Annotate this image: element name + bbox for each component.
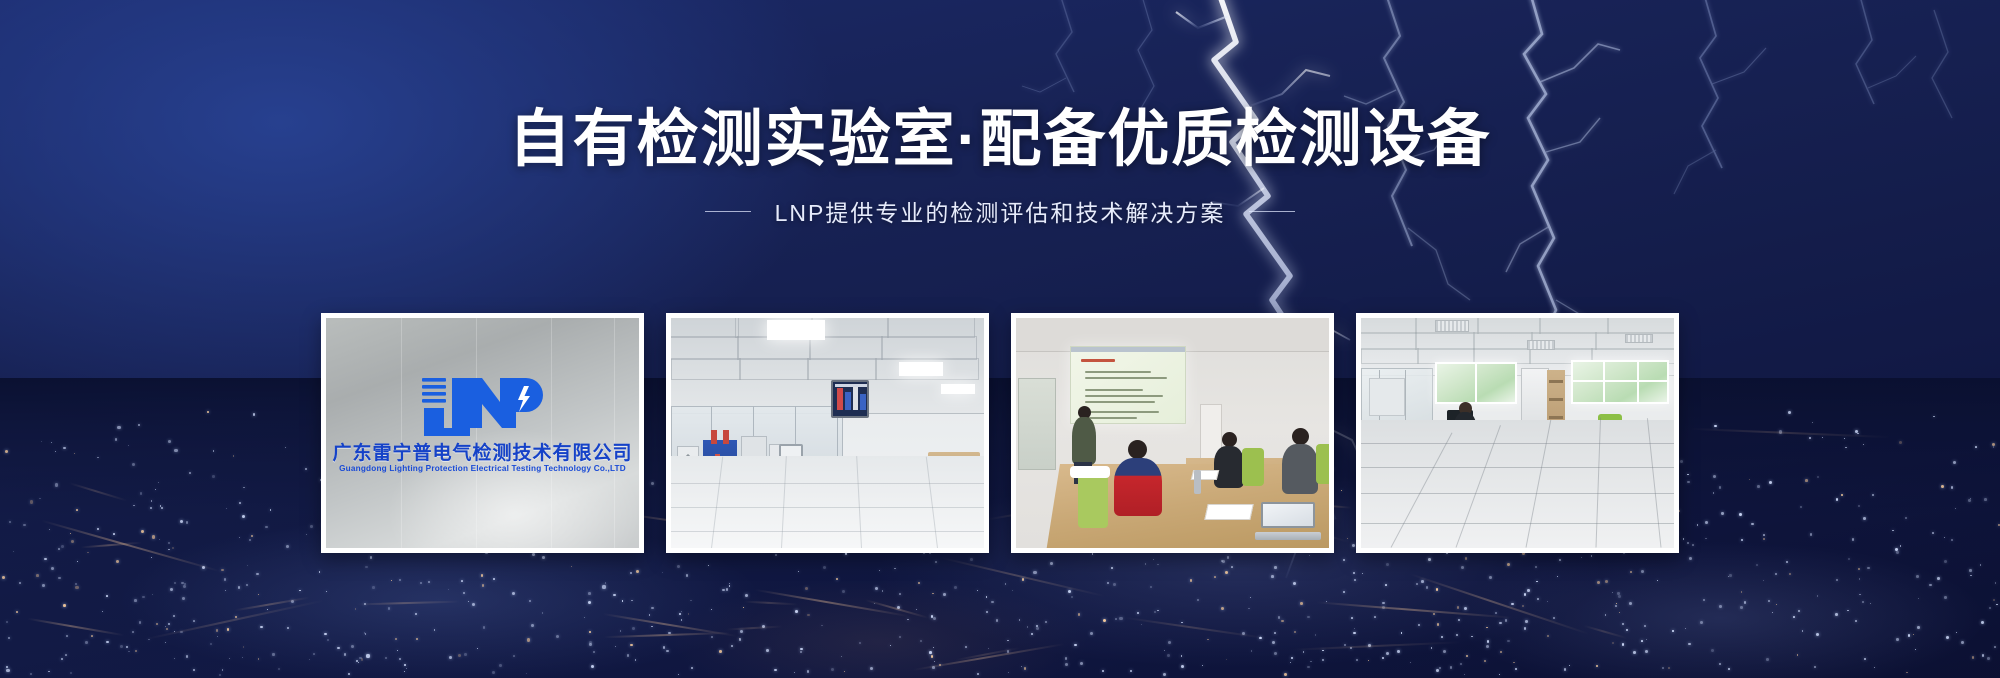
gallery-photo-training-meeting-room[interactable] xyxy=(1011,313,1334,553)
company-name-en: Guangdong Lighting Protection Electrical… xyxy=(339,464,626,473)
divider-left xyxy=(705,211,751,212)
hero-banner: 自有检测实验室·配备优质检测设备 LNP提供专业的检测评估和技术解决方案 xyxy=(0,0,2000,678)
laptop-icon xyxy=(1255,502,1321,540)
window-right xyxy=(1571,360,1669,404)
page-title: 自有检测实验室·配备优质检测设备 xyxy=(0,105,2000,174)
gallery-photo-company-logo-wall[interactable]: 广东雷宁普电气检测技术有限公司 Guangdong Lighting Prote… xyxy=(321,313,644,553)
page-subtitle: LNP提供专业的检测评估和技术解决方案 xyxy=(775,194,1226,228)
subtitle-row: LNP提供专业的检测评估和技术解决方案 xyxy=(0,194,2000,228)
hero-text-block: 自有检测实验室·配备优质检测设备 LNP提供专业的检测评估和技术解决方案 xyxy=(0,105,2000,228)
photo-gallery: 广东雷宁普电气检测技术有限公司 Guangdong Lighting Prote… xyxy=(0,313,2000,555)
lnp-logo-icon xyxy=(420,372,546,438)
gallery-photo-testing-laboratory[interactable] xyxy=(666,313,989,553)
wall-display-icon xyxy=(831,380,869,418)
laboratory-image xyxy=(671,318,984,548)
office-image xyxy=(1361,318,1674,548)
company-name-cn: 广东雷宁普电气检测技术有限公司 xyxy=(332,438,632,465)
meeting-room-image xyxy=(1016,318,1329,548)
gallery-photo-office-area[interactable] xyxy=(1356,313,1679,553)
divider-right xyxy=(1249,211,1295,212)
logo-wall-image: 广东雷宁普电气检测技术有限公司 Guangdong Lighting Prote… xyxy=(326,318,639,548)
